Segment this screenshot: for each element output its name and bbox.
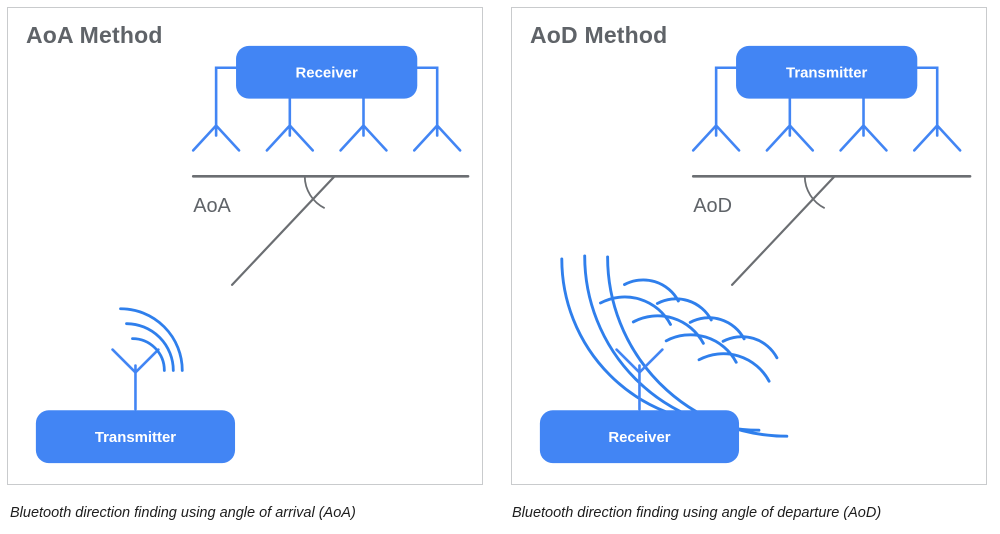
device-box-label-aod: Receiver bbox=[608, 429, 670, 446]
caption-aoa: Bluetooth direction finding using angle … bbox=[10, 505, 356, 521]
panel-aoa-graphic: Receiver AoA Transmitter bbox=[8, 8, 482, 484]
angle-label-aoa: AoA bbox=[193, 195, 231, 217]
angle-label-aod: AoD bbox=[693, 195, 732, 217]
direction-ray-aod bbox=[732, 176, 835, 285]
array-box-label-aoa: Receiver bbox=[296, 65, 358, 82]
direction-ray-aoa bbox=[232, 176, 335, 285]
panel-aod-graphic: Transmitter AoD bbox=[512, 8, 986, 484]
panel-aod: AoD Method Transmitter bbox=[511, 7, 987, 485]
signal-waves-aoa bbox=[121, 309, 183, 371]
diagram-stage: AoA Method Receiv bbox=[0, 0, 1000, 534]
array-box-label-aod: Transmitter bbox=[786, 65, 867, 82]
panel-aoa: AoA Method Receiv bbox=[7, 7, 483, 485]
device-box-label-aoa: Transmitter bbox=[95, 429, 176, 446]
caption-aod: Bluetooth direction finding using angle … bbox=[512, 505, 881, 521]
signal-wavefront-aod bbox=[562, 256, 787, 436]
device-antenna-aoa bbox=[113, 350, 159, 410]
